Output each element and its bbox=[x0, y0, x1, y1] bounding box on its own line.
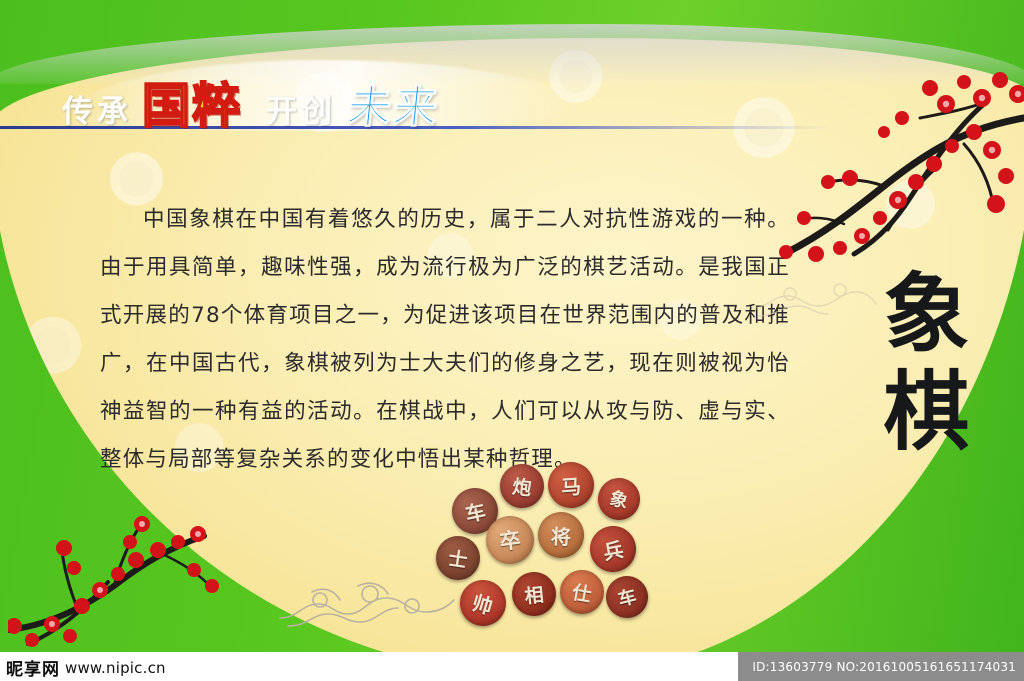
title-segment-kaichuang: 开创 bbox=[266, 86, 336, 131]
chess-piece: 车 bbox=[602, 572, 653, 623]
chess-pieces-group: 车 炮 马 象 士 卒 将 兵 帅 相 仕 车 bbox=[430, 452, 680, 652]
title-segment-guocui: 国粹 bbox=[142, 66, 242, 136]
plum-blossom-branch-bottom-icon bbox=[8, 498, 248, 652]
chess-piece: 仕 bbox=[557, 567, 608, 618]
cloud-motif-right-icon bbox=[748, 268, 878, 332]
chess-piece: 炮 bbox=[498, 462, 546, 510]
chess-piece: 帅 bbox=[455, 575, 512, 632]
footer-brand-name: 昵享网 bbox=[6, 655, 60, 680]
poster-canvas: 传承 国粹 开创 未来 中国象棋在中国有着悠久的历史，属于二人对抗性游戏的一种。… bbox=[0, 0, 1024, 681]
title-segment-weilai: 未来 bbox=[345, 71, 444, 135]
chess-piece: 将 bbox=[537, 511, 585, 559]
chess-piece: 士 bbox=[433, 533, 483, 583]
footer-id-text: ID:13603779 NO:20161005161651174031 bbox=[738, 652, 1024, 681]
chess-piece: 兵 bbox=[586, 522, 639, 575]
footer-watermark: 昵享网 www.nipic.cn bbox=[6, 655, 166, 680]
title-segment-chuancheng: 传承 bbox=[62, 86, 132, 131]
poster-title: 传承 国粹 开创 未来 bbox=[62, 66, 440, 136]
chess-piece: 象 bbox=[594, 474, 645, 525]
chess-piece: 马 bbox=[546, 460, 595, 509]
plum-blossom-branch-top-icon bbox=[634, 58, 1024, 272]
chess-piece: 相 bbox=[510, 570, 558, 618]
footer-brand-url: www.nipic.cn bbox=[65, 659, 166, 677]
